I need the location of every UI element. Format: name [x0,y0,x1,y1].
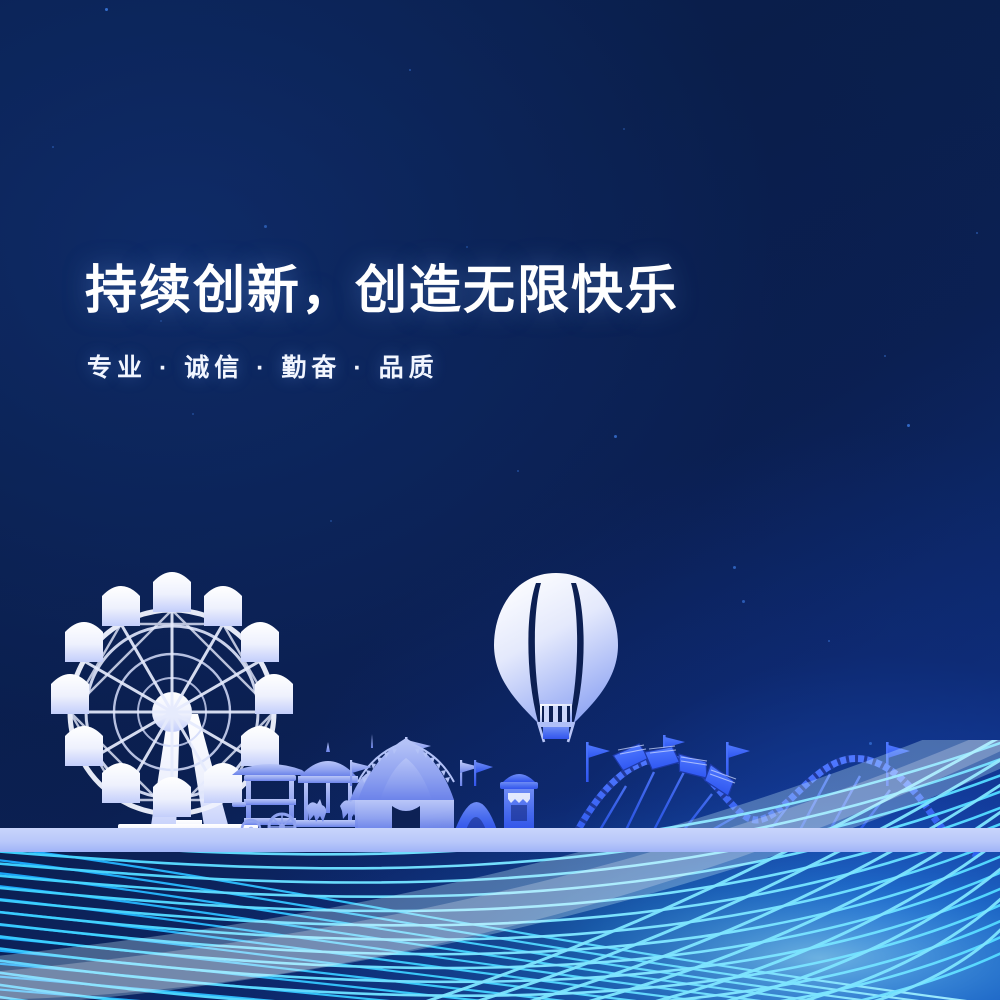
page-title: 持续创新，创造无限快乐 [85,262,915,320]
text-block: 持续创新，创造无限快乐 专业 · 诚信 · 勤奋 · 品质 [85,262,915,384]
hot-air-balloon [494,573,618,742]
tagline: 专业 · 诚信 · 勤奋 · 品质 [87,348,915,384]
ground-strip [0,828,1000,852]
poster-canvas: 持续创新，创造无限快乐 专业 · 诚信 · 勤奋 · 品质 [0,0,1000,1000]
